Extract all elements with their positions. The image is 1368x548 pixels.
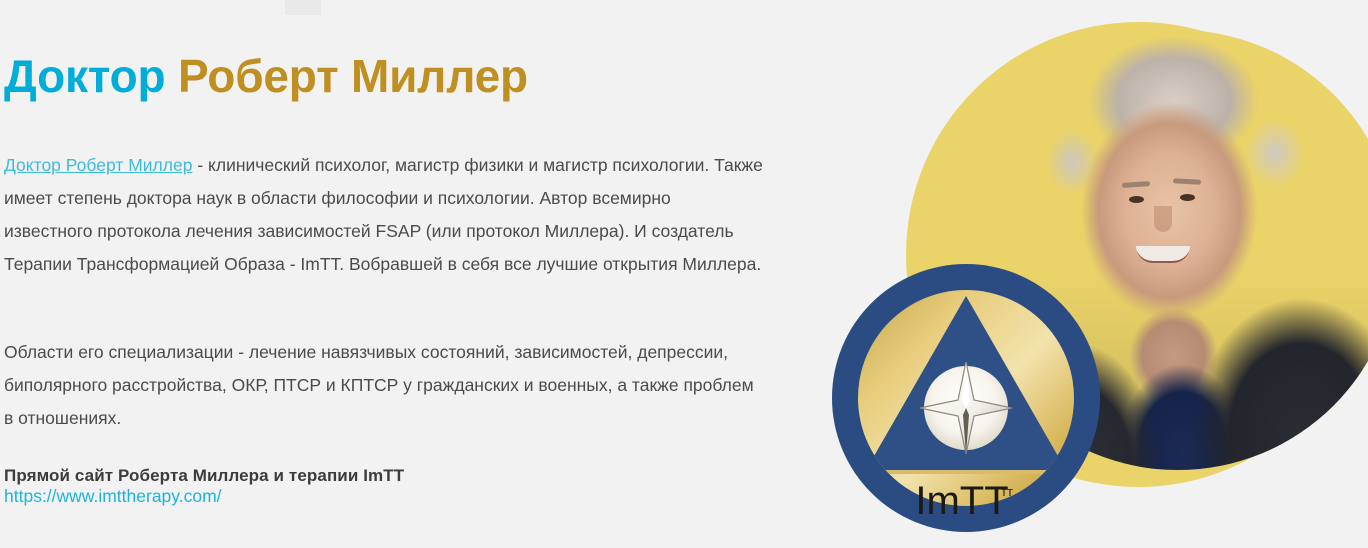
badge-wordmark: ImTT: [915, 479, 1008, 523]
content-column: Доктор Роберт Миллер Доктор Роберт Милле…: [0, 0, 800, 548]
nose: [1154, 206, 1172, 232]
page-title: Доктор Роберт Миллер: [4, 48, 528, 104]
badge-trademark: тт: [1001, 484, 1013, 499]
media-column: ImTT тт: [800, 0, 1368, 548]
paragraph-bio: Доктор Роберт Миллер - клинический психо…: [4, 149, 764, 281]
badge-baseline: [856, 470, 1076, 474]
doctor-name-link[interactable]: Доктор Роберт Миллер: [4, 155, 192, 175]
eye-right: [1180, 194, 1195, 201]
page-title-part-name: Роберт Миллер: [178, 50, 528, 102]
eyebrow-right: [1173, 178, 1201, 184]
page-title-part-doctor: Доктор: [4, 50, 178, 102]
eye-left: [1129, 196, 1144, 203]
imttherapy-site-link[interactable]: https://www.imttherapy.com/: [4, 482, 222, 510]
smile-mouth: [1136, 246, 1190, 263]
eyebrow-left: [1122, 181, 1150, 188]
imtt-logo-badge: ImTT тт: [826, 258, 1106, 538]
paragraph-specialization: Области его специализации - лечение навя…: [4, 336, 764, 435]
